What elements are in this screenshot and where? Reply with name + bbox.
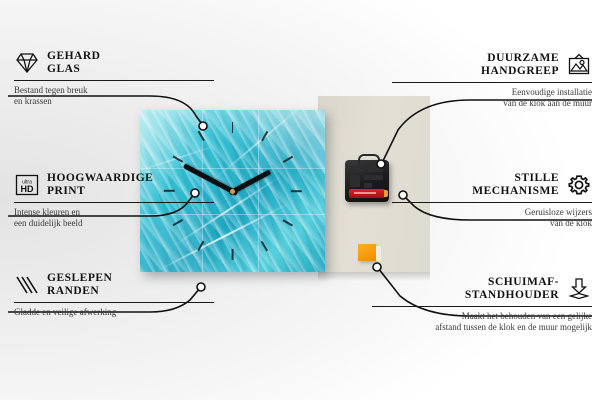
feature-title-line2: HANDGREEP: [481, 65, 559, 77]
feature-title-line1: HOOGWAARDIGE: [47, 172, 153, 184]
hatched-edge-icon: [14, 273, 40, 297]
clock-movement: [345, 160, 389, 202]
gear-icon: [566, 173, 592, 197]
feature-sub-line1: Bestand tegen breuk: [14, 85, 87, 95]
feature-sub-line2: van de klok: [550, 218, 592, 228]
svg-text:HD: HD: [21, 184, 34, 194]
callout-rule: [14, 302, 214, 303]
diamond-icon: [14, 51, 40, 75]
infographic-stage: GEHARD GLAS Bestand tegen breuk en krass…: [0, 0, 600, 400]
clock-center-pin: [230, 189, 235, 194]
feature-sub-line2: en krassen: [14, 96, 52, 106]
aa-battery: [349, 189, 385, 198]
ultra-hd-icon: ultra HD: [14, 173, 40, 197]
feature-sub-line2: een duidelijk beeld: [14, 218, 82, 228]
feature-sub-line1: Intense kleuren en: [14, 207, 80, 217]
picture-frame-icon: [566, 53, 592, 77]
feature-sub-line1: Gladde en veilige afwerking: [14, 307, 116, 317]
foam-spacer: [358, 244, 376, 261]
callout-stille-mechanisme[interactable]: STILLE MECHANISME Geruisloze wijzers van…: [392, 172, 592, 229]
feature-title-line1: DUURZAME: [487, 52, 559, 64]
feature-title-line1: SCHUIMAF-: [488, 276, 559, 288]
callout-schuimafstandhouder[interactable]: SCHUIMAF- STANDHOUDER Maakt het behouden…: [372, 276, 592, 333]
callout-rule: [392, 202, 592, 203]
callout-rule: [392, 82, 592, 83]
feature-title-line1: GESLEPEN: [47, 272, 112, 284]
feature-sub-line2: afstand tussen de klok en de muur mogeli…: [435, 322, 592, 332]
callout-rule: [14, 80, 214, 81]
feature-title-line2: RANDEN: [47, 285, 99, 297]
spacer-arrow-icon: [566, 277, 592, 301]
callout-rule: [372, 306, 592, 307]
callout-hoogwaardige-print[interactable]: ultra HD HOOGWAARDIGE PRINT Intense kleu…: [14, 172, 214, 229]
feature-title-line2: GLAS: [47, 63, 80, 75]
feature-sub-line1: Maakt het behouden van een gelijke: [462, 311, 592, 321]
callout-gehard-glas[interactable]: GEHARD GLAS Bestand tegen breuk en krass…: [14, 50, 214, 107]
feature-sub-line1: Eenvoudige installatie: [512, 87, 592, 97]
callout-rule: [14, 202, 214, 203]
feature-sub-line1: Geruisloze wijzers: [525, 207, 592, 217]
feature-title-line2: MECHANISME: [472, 185, 559, 197]
callout-geslepen-randen[interactable]: GESLEPEN RANDEN Gladde en veilige afwerk…: [14, 272, 214, 318]
feature-title-line1: GEHARD: [47, 50, 100, 62]
callout-duurzame-handgreep[interactable]: DUURZAME HANDGREEP Eenvoudige installati…: [392, 52, 592, 109]
feature-title-line2: STANDHOUDER: [465, 289, 559, 301]
feature-title-line2: PRINT: [47, 185, 85, 197]
feature-title-line1: STILLE: [514, 172, 559, 184]
feature-sub-line2: van de klok aan de muur: [503, 98, 592, 108]
